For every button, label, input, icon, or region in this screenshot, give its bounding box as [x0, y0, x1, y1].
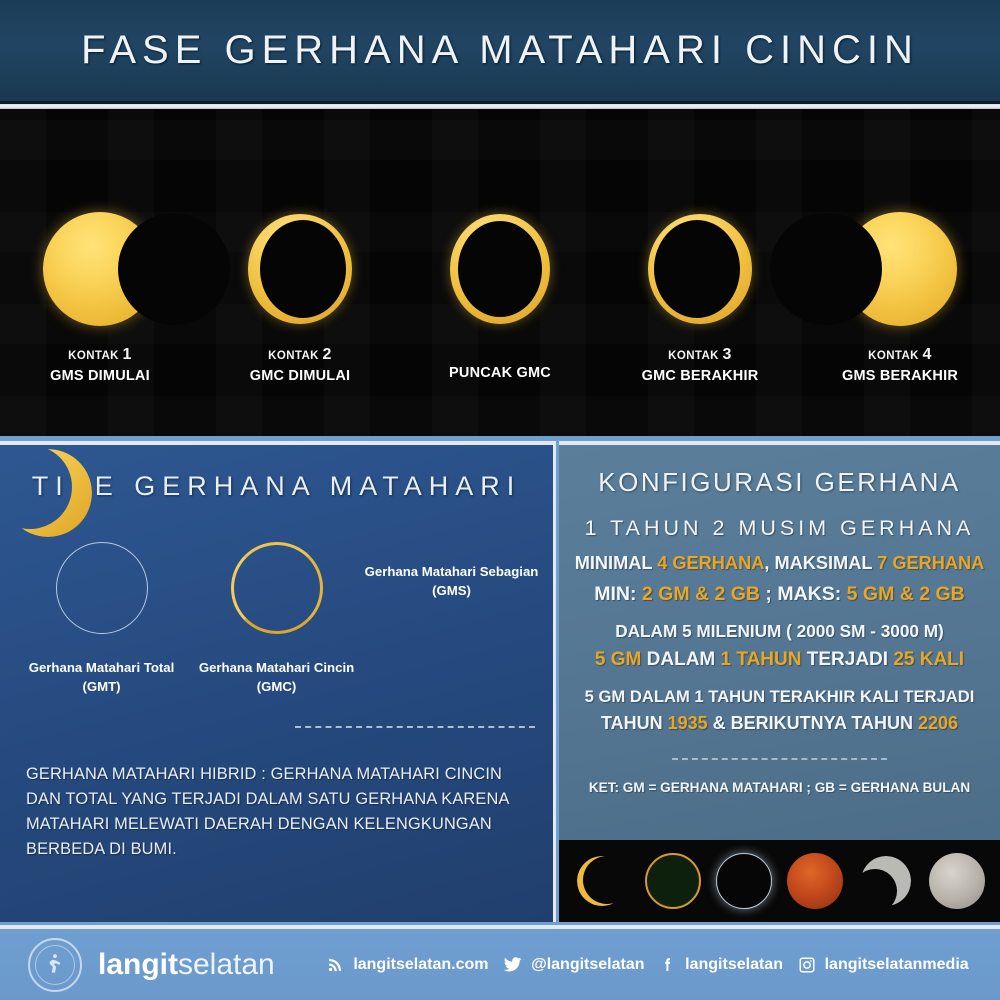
left-panel-divider: [295, 726, 535, 728]
annular-ring-icon: [229, 540, 325, 636]
config-line-last-occurrence: 5 GM DALAM 1 TAHUN TERAKHIR KALI TERJADI: [573, 687, 986, 707]
ring-thick-right-icon: [640, 209, 760, 329]
config-subtitle: 1 TAHUN 2 MUSIM GERHANA: [573, 516, 986, 541]
langitselatan-seal-icon: [28, 938, 82, 992]
type-abbr-annular: (GMC): [199, 677, 354, 696]
brand-wordmark: langitselatan: [98, 948, 275, 982]
social-label-twitter: @langitselatan: [531, 956, 644, 974]
facebook-icon: [659, 956, 676, 973]
photo-total-solar-corona: [716, 853, 772, 909]
social-label-website: langitselatan.com: [353, 956, 488, 974]
twitter-icon: [503, 955, 522, 974]
eclipse-type-total: Gerhana Matahari Total (GMT): [14, 540, 189, 696]
photo-total-lunar-blood-moon: [787, 853, 843, 909]
photo-annular-solar-dark: [645, 853, 701, 909]
right-panel-divider: [672, 758, 887, 760]
type-abbr-partial: (GMS): [365, 581, 539, 600]
social-label-facebook: langitselatan: [685, 956, 783, 974]
phase-name-3: PUNCAK GMC: [449, 364, 551, 383]
config-line-5gm-frequency: 5 GM DALAM 1 TAHUN TERJADI 25 KALI: [573, 649, 986, 671]
phase-item-1: KONTAK 1 GMS DIMULAI: [0, 109, 200, 387]
config-line-minmax-eclipses: MINIMAL 4 GERHANA, MAKSIMAL 7 GERHANA: [573, 553, 986, 574]
rss-icon: [327, 956, 344, 973]
legend-text: KET: GM = GERHANA MATAHARI ; GB = GERHAN…: [573, 780, 986, 795]
type-abbr-total: (GMT): [29, 677, 175, 696]
ring-even-icon: [440, 209, 560, 329]
config-line-years: TAHUN 1935 & BERIKUTNYA TAHUN 2206: [573, 713, 986, 734]
header-band: FASE GERHANA MATAHARI CINCIN: [0, 0, 1000, 104]
eclipse-type-partial: Gerhana Matahari Sebagian (GMS): [364, 540, 539, 696]
phase-item-2: KONTAK 2 GMC DIMULAI: [200, 109, 400, 387]
sun-bite-right-icon: [40, 209, 160, 329]
type-label-partial: Gerhana Matahari Sebagian: [365, 562, 539, 581]
photo-partial-solar-crescent: [574, 853, 630, 909]
phase-kontak-4: KONTAK 3: [642, 344, 759, 365]
config-line-min-max-gm-gb: MIN: 2 GM & 2 GB ; MAKS: 5 GM & 2 GB: [573, 583, 986, 606]
config-line-millennium: DALAM 5 MILENIUM ( 2000 SM - 3000 M): [573, 621, 986, 642]
social-links: langitselatan.com @langitselatan langits…: [320, 955, 1000, 974]
partial-crescent-icon: [0, 445, 96, 541]
photo-full-moon: [929, 853, 985, 909]
eclipse-photo-strip: [559, 840, 1000, 922]
page-title: FASE GERHANA MATAHARI CINCIN: [81, 28, 919, 73]
photo-partial-lunar: [858, 853, 914, 909]
phase-item-5: KONTAK 4 GMS BERAKHIR: [800, 109, 1000, 387]
phase-item-3: PUNCAK GMC: [400, 109, 600, 383]
social-link-twitter[interactable]: @langitselatan: [503, 955, 644, 974]
phase-kontak-1: KONTAK 1: [50, 344, 150, 365]
phase-name-2: GMC DIMULAI: [250, 367, 350, 386]
phase-kontak-2: KONTAK 2: [250, 344, 350, 365]
brand-block[interactable]: langitselatan: [0, 938, 320, 992]
phase-name-1: GMS DIMULAI: [50, 367, 150, 386]
infographic-root: FASE GERHANA MATAHARI CINCIN KONTAK 1 GM…: [0, 0, 1000, 1000]
phase-kontak-5: KONTAK 4: [842, 344, 958, 365]
phase-name-5: GMS BERAKHIR: [842, 367, 958, 386]
brand-light: selatan: [178, 948, 275, 981]
eclipse-phases-section: KONTAK 1 GMS DIMULAI KONTAK 2 GMC DIMULA…: [0, 109, 1000, 436]
eclipse-config-panel: KONFIGURASI GERHANA 1 TAHUN 2 MUSIM GERH…: [559, 441, 1000, 922]
right-panel-title: KONFIGURASI GERHANA: [573, 467, 986, 498]
brand-bold: langit: [98, 948, 178, 981]
hybrid-eclipse-text: GERHANA MATAHARI HIBRID : GERHANA MATAHA…: [26, 762, 531, 862]
phase-name-4: GMC BERAKHIR: [642, 367, 759, 386]
instagram-icon: [798, 956, 816, 974]
social-link-instagram[interactable]: langitselatanmedia: [798, 956, 969, 974]
footer-bar: langitselatan langitselatan.com: [0, 925, 1000, 1000]
eclipse-type-list: Gerhana Matahari Total (GMT) Gerhana Mat…: [0, 540, 553, 696]
social-label-instagram: langitselatanmedia: [825, 956, 969, 974]
ring-thick-left-icon: [240, 209, 360, 329]
eclipse-types-panel: TIPE GERHANA MATAHARI Gerhana Matahari T…: [0, 441, 556, 922]
total-eclipse-outline-icon: [54, 540, 150, 636]
phase-item-4: KONTAK 3 GMC BERAKHIR: [600, 109, 800, 387]
social-link-facebook[interactable]: langitselatan: [659, 956, 783, 974]
type-label-annular: Gerhana Matahari Cincin: [199, 658, 354, 677]
social-link-website[interactable]: langitselatan.com: [327, 956, 488, 974]
type-label-total: Gerhana Matahari Total: [29, 658, 175, 677]
sun-bite-left-icon: [840, 209, 960, 329]
eclipse-type-annular: Gerhana Matahari Cincin (GMC): [189, 540, 364, 696]
